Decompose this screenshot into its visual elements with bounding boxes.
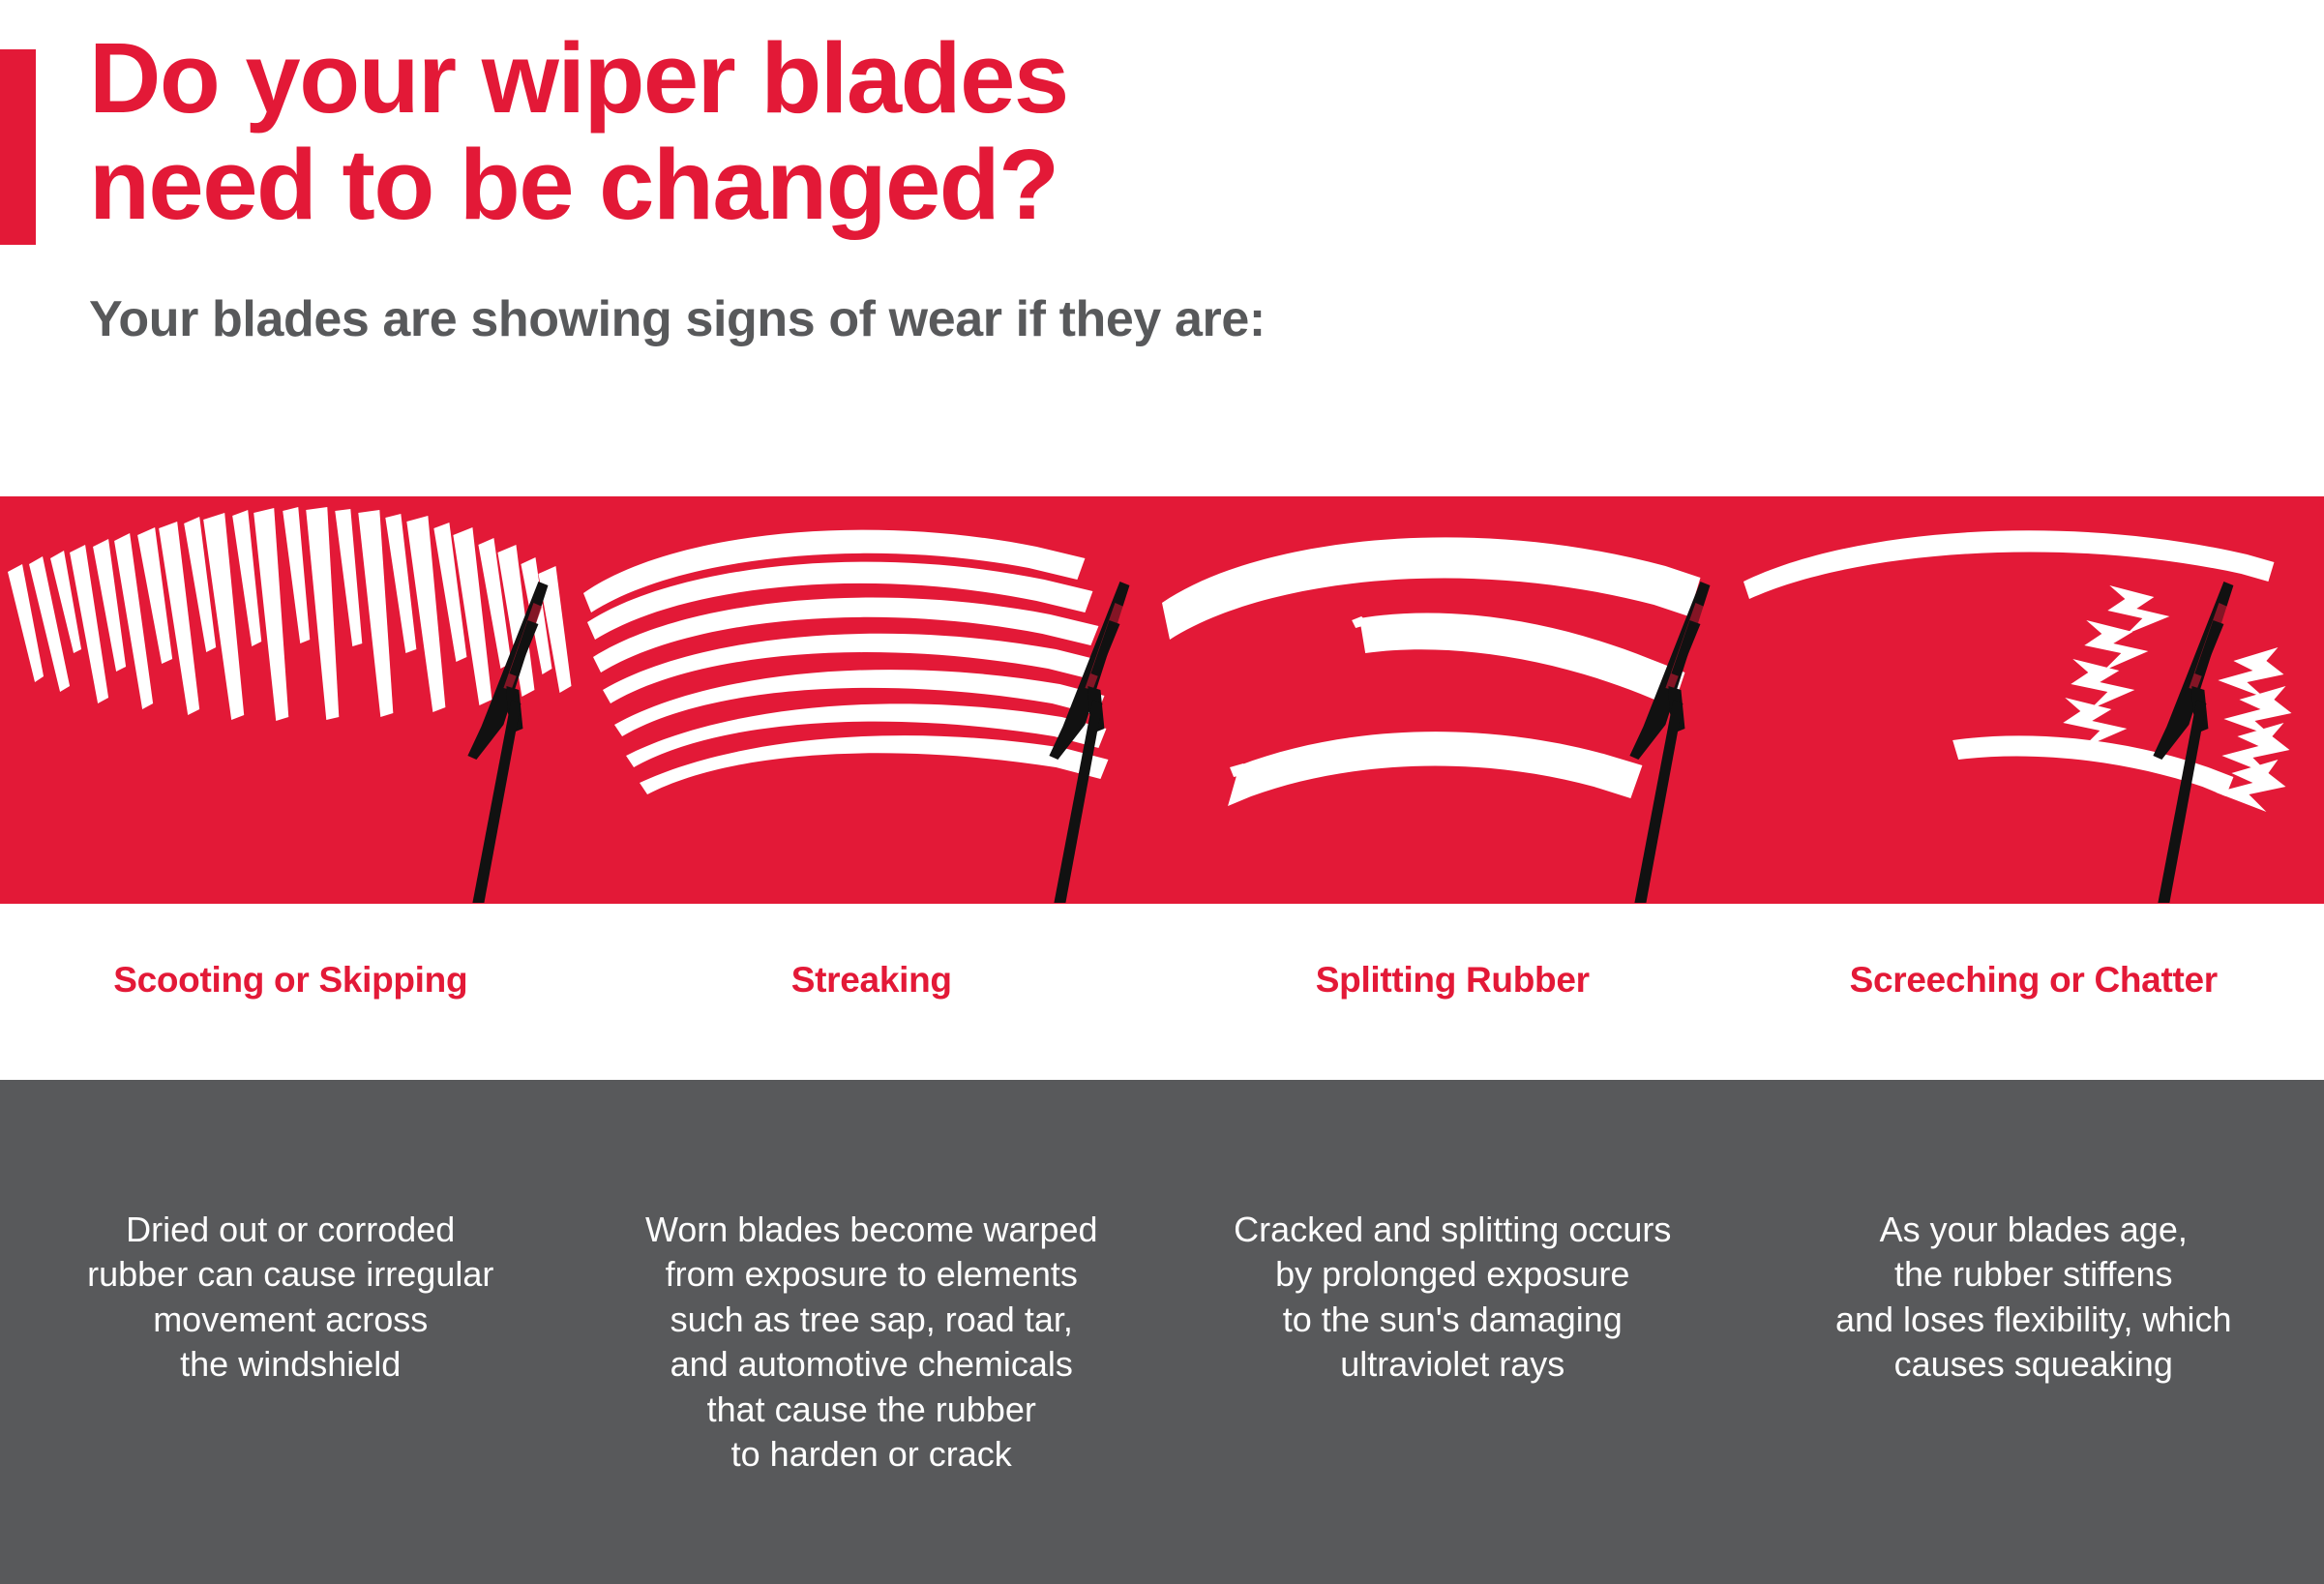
split-rubber-arcs-icon	[1162, 496, 1743, 904]
red-accent-bar	[0, 49, 36, 245]
label-cell-4: Screeching or Chatter	[1743, 904, 2324, 1080]
label-cell-1: Scooting or Skipping	[0, 904, 581, 1080]
illustration-band	[0, 496, 2324, 904]
wiper-blade-shape	[1629, 582, 1710, 903]
illustration-splitting	[1162, 496, 1743, 904]
wiper-blade-shape	[2153, 582, 2233, 903]
column-label-splitting: Splitting Rubber	[1316, 960, 1590, 1001]
chatter-bolt-left-group	[2063, 585, 2169, 748]
description-cell-1: Dried out or corroded rubber can cause i…	[0, 1080, 581, 1584]
illustration-streaking	[581, 496, 1163, 904]
column-label-scooting: Scooting or Skipping	[113, 960, 467, 1001]
description-band: Dried out or corroded rubber can cause i…	[0, 1080, 2324, 1584]
column-label-screeching: Screeching or Chatter	[1850, 960, 2218, 1001]
screeching-bolts-icon	[1743, 496, 2324, 904]
illustration-skipping	[0, 496, 581, 904]
column-description-scooting: Dried out or corroded rubber can cause i…	[87, 1208, 493, 1584]
description-cell-3: Cracked and splitting occurs by prolonge…	[1162, 1080, 1743, 1584]
description-cell-2: Worn blades become warped from exposure …	[581, 1080, 1163, 1584]
label-cell-2: Streaking	[581, 904, 1163, 1080]
description-cell-4: As your blades age, the rubber stiffens …	[1743, 1080, 2324, 1584]
header-section: Do your wiper blades need to be changed?…	[0, 0, 2324, 496]
label-cell-3: Splitting Rubber	[1162, 904, 1743, 1080]
column-label-streaking: Streaking	[791, 960, 952, 1001]
illustration-screeching	[1743, 496, 2324, 904]
page-subtitle: Your blades are showing signs of wear if…	[89, 290, 1266, 348]
column-description-streaking: Worn blades become warped from exposure …	[645, 1208, 1098, 1584]
label-band: Scooting or Skipping Streaking Splitting…	[0, 904, 2324, 1080]
skipping-streaks-icon	[0, 496, 581, 904]
page-title: Do your wiper blades need to be changed?	[89, 25, 1444, 238]
column-description-screeching: As your blades age, the rubber stiffens …	[1835, 1208, 2232, 1584]
streaking-arcs-icon	[581, 496, 1163, 904]
column-description-splitting: Cracked and splitting occurs by prolonge…	[1234, 1208, 1671, 1584]
